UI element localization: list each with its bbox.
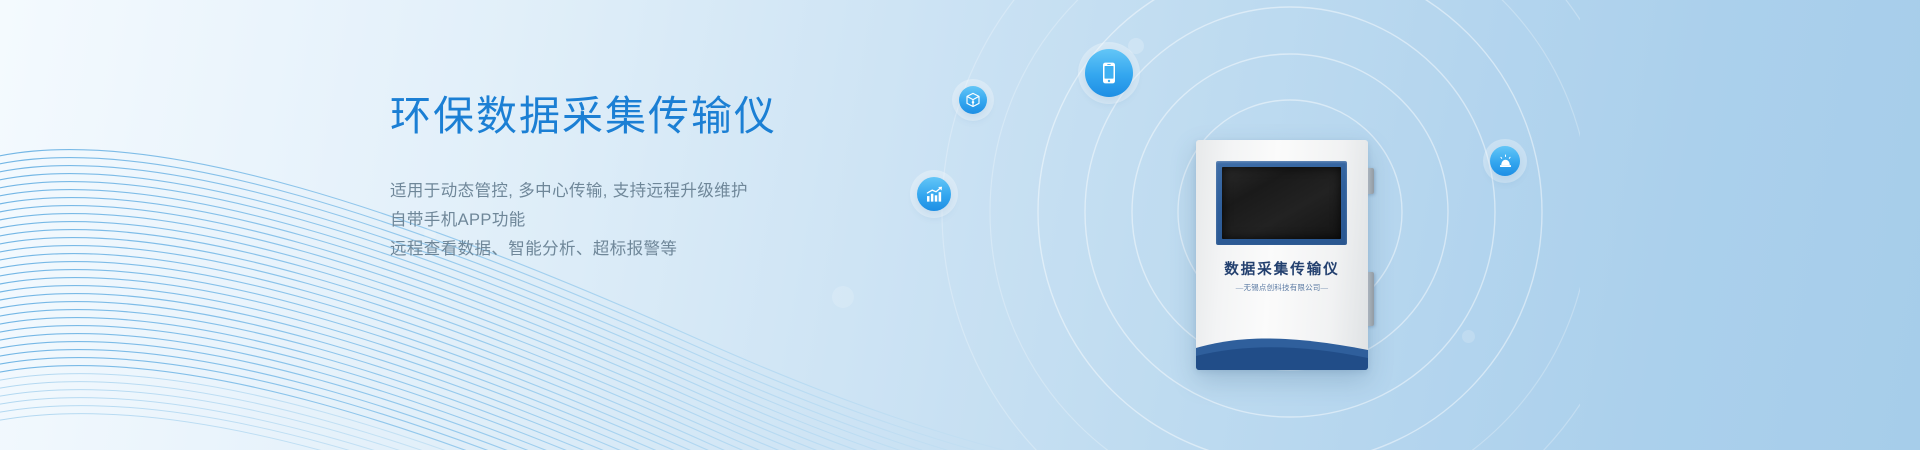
feature-list-item: 远程查看数据、智能分析、超标报警等	[390, 235, 950, 264]
device-screen	[1222, 167, 1341, 239]
chart-icon	[925, 185, 944, 204]
alarm-siren-icon	[1497, 153, 1514, 170]
box-icon	[965, 92, 981, 108]
mobile-phone-icon	[1097, 61, 1121, 85]
chart-icon-badge[interactable]	[917, 177, 951, 211]
device-brand-label: 数据采集传输仪	[1196, 258, 1368, 279]
hero-copy: 环保数据采集传输仪 适用于动态管控, 多中心传输, 支持远程升级维护 自带手机A…	[390, 92, 950, 264]
feature-list-item: 自带手机APP功能	[390, 206, 950, 235]
bokeh-dot	[832, 286, 854, 308]
bokeh-dot	[1462, 330, 1475, 343]
bokeh-dot	[1128, 38, 1144, 54]
alarm-siren-icon-badge[interactable]	[1490, 146, 1520, 176]
device-display-bezel	[1216, 161, 1347, 245]
feature-list: 适用于动态管控, 多中心传输, 支持远程升级维护 自带手机APP功能 远程查看数…	[390, 177, 950, 264]
product-hero-banner: 环保数据采集传输仪 适用于动态管控, 多中心传输, 支持远程升级维护 自带手机A…	[0, 0, 1920, 450]
device-company-label: —无锡点创科技有限公司—	[1196, 282, 1368, 293]
page-title: 环保数据采集传输仪	[390, 92, 950, 141]
device-footer-wave	[1196, 332, 1368, 370]
device-enclosure: 数据采集传输仪 —无锡点创科技有限公司—	[1196, 140, 1368, 370]
device-photo: 数据采集传输仪 —无锡点创科技有限公司—	[1196, 140, 1368, 370]
mobile-phone-icon-badge[interactable]	[1085, 49, 1133, 97]
feature-list-item: 适用于动态管控, 多中心传输, 支持远程升级维护	[390, 177, 950, 206]
box-icon-badge[interactable]	[959, 86, 987, 114]
